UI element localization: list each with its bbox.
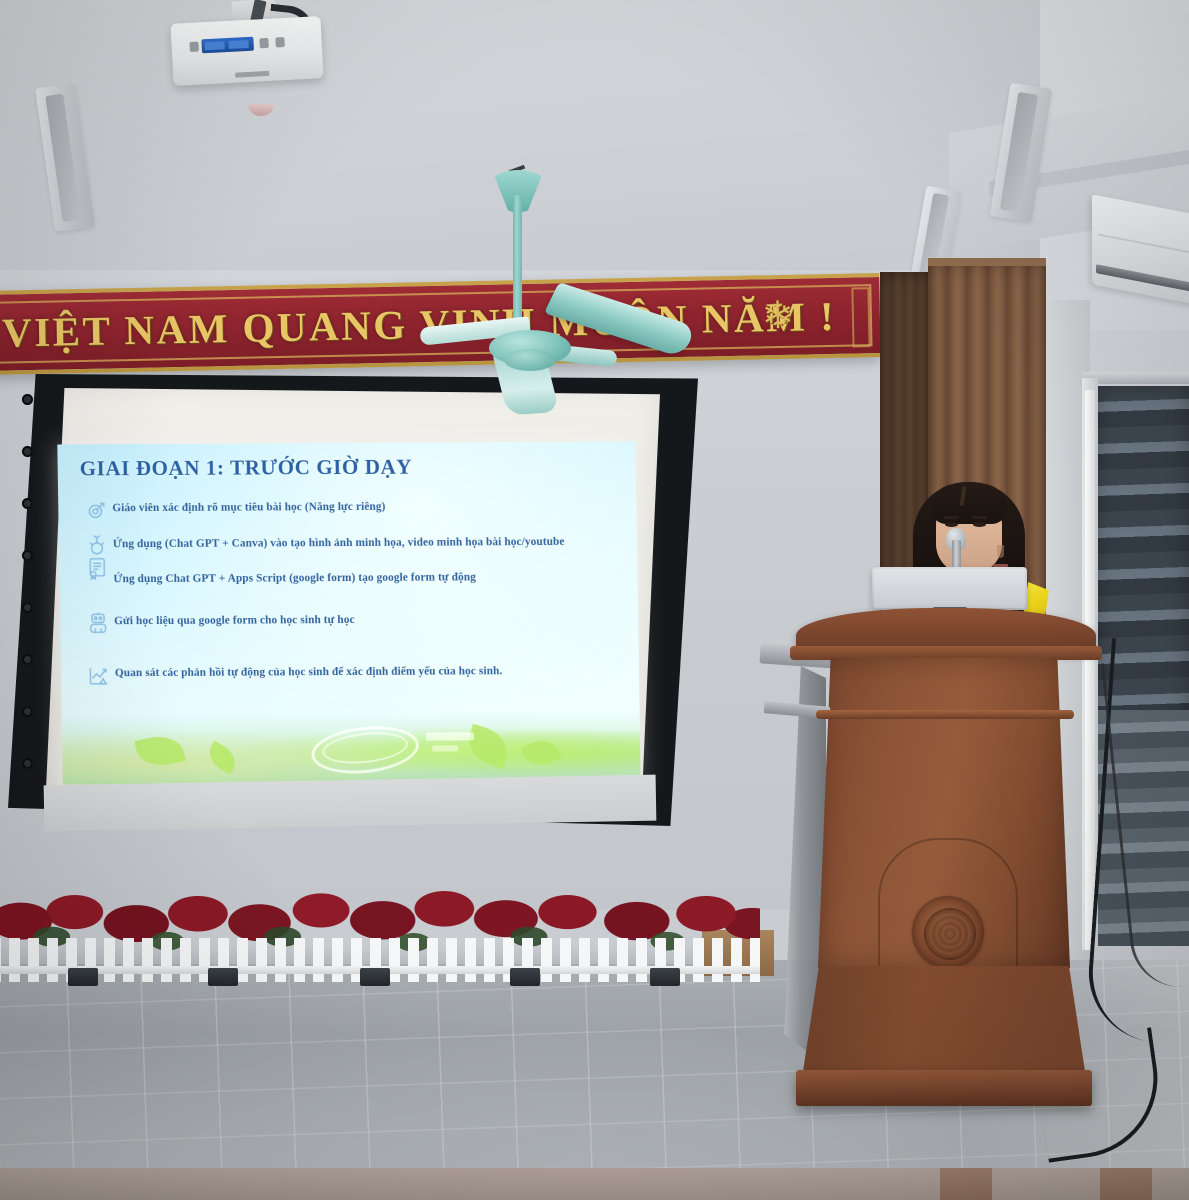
growth-chart-icon bbox=[87, 663, 115, 689]
wood-slat-wall-cap bbox=[928, 258, 1046, 266]
planter-pot bbox=[510, 968, 540, 986]
slide-bottom-decoration bbox=[62, 709, 641, 784]
podium-top-edge bbox=[790, 646, 1102, 660]
slide-bullet-list: Giáo viên xác định rõ mục tiêu bài học (… bbox=[84, 496, 617, 690]
target-dart-icon bbox=[84, 498, 112, 524]
slide-bullet-item: Gửi học liệu qua google form cho học sin… bbox=[86, 609, 616, 638]
slide-bullet-item: Ứng dụng Chat GPT + Apps Script (google … bbox=[85, 554, 616, 588]
red-poinsettia-row bbox=[0, 876, 760, 994]
nose bbox=[997, 545, 1004, 558]
vga-port-panel bbox=[201, 37, 254, 54]
eye bbox=[945, 522, 958, 527]
hair-fringe bbox=[931, 484, 1007, 524]
eye bbox=[973, 522, 986, 527]
fan-hub-cap bbox=[504, 349, 556, 371]
usb-port bbox=[275, 37, 285, 47]
projector-brand-mark bbox=[235, 71, 269, 78]
slide-bullet-item: Giáo viên xác định rõ mục tiêu bài học (… bbox=[84, 496, 614, 525]
audio-port bbox=[189, 42, 199, 52]
slide-bullet-item: Quan sát các phản hồi tự động của học si… bbox=[87, 661, 617, 690]
lotus-icon: ❄ bbox=[762, 297, 795, 336]
planter-pot bbox=[360, 968, 390, 986]
blinds-headrail bbox=[1082, 372, 1189, 384]
screen-grommets bbox=[22, 388, 34, 808]
document-certificate-icon bbox=[85, 556, 113, 582]
robot-icon bbox=[86, 611, 114, 637]
carved-seal-emblem bbox=[912, 896, 984, 968]
hdmi-port bbox=[259, 38, 269, 48]
planter-pot bbox=[650, 968, 680, 986]
open-laptop bbox=[872, 567, 1027, 610]
planter-pot bbox=[208, 968, 238, 986]
slide-bullet-text: Ứng dụng (Chat GPT + Canva) vào tạo hình… bbox=[113, 532, 565, 552]
slide-bullet-text: Quan sát các phản hồi tự động của học si… bbox=[115, 661, 503, 681]
slide-bullet-text: Giáo viên xác định rõ mục tiêu bài học (… bbox=[112, 497, 385, 516]
slide-bullet-text: Ứng dụng Chat GPT + Apps Script (google … bbox=[113, 554, 476, 587]
podium-rail bbox=[816, 710, 1074, 719]
banner-corner-ornament bbox=[851, 287, 870, 347]
slide-title: GIAI ĐOẠN 1: TRƯỚC GIỜ DẠY bbox=[80, 455, 413, 482]
planter-pot bbox=[68, 968, 98, 986]
projected-slide: GIAI ĐOẠN 1: TRƯỚC GIỜ DẠY Giáo viên xác… bbox=[57, 442, 640, 785]
slide-bullet-text: Gửi học liệu qua google form cho học sin… bbox=[114, 610, 355, 629]
ceiling-projector bbox=[170, 16, 323, 86]
floor-front-strip bbox=[0, 1168, 1189, 1200]
presentation-room-photo: VIỆT NAM QUANG VINH MUÔN NĂM ! ❄ GIAI ĐO… bbox=[0, 0, 1189, 1200]
